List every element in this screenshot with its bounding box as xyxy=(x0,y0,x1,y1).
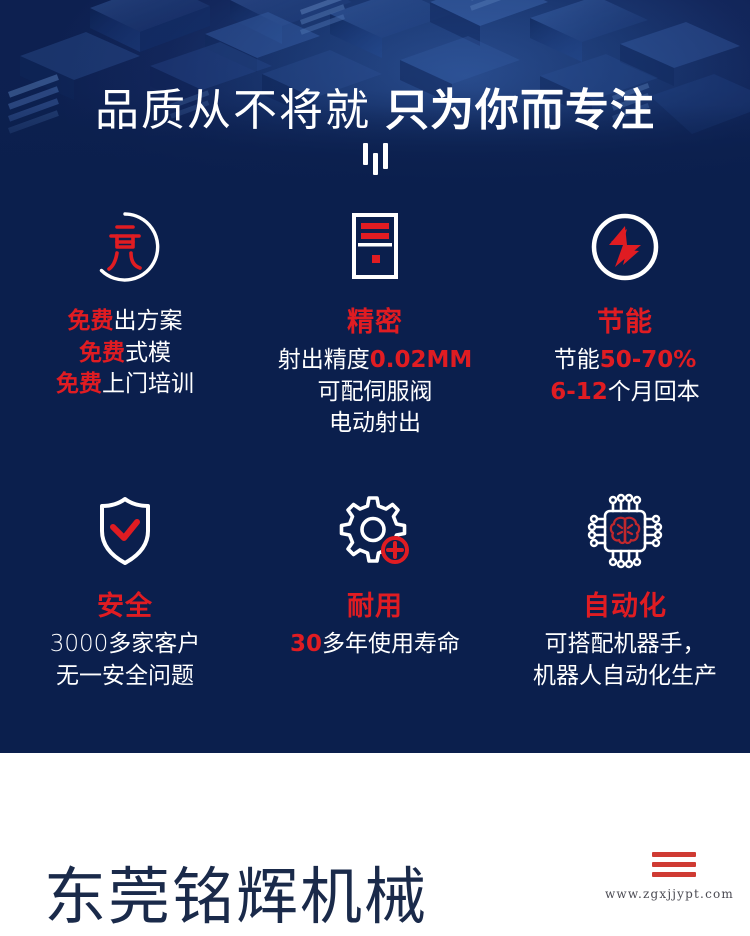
feature-line-seg: 免费 xyxy=(68,308,114,334)
feature-line-seg: 出方案 xyxy=(114,308,183,334)
feature-line-seg: 50-70% xyxy=(600,347,697,373)
feature-lines: 可搭配机器手， 机器人自动化生产 xyxy=(533,629,717,692)
feature-line: 节能50-70% xyxy=(550,345,700,377)
feature-line: 可搭配机器手， xyxy=(533,629,717,661)
feature-lines: 3000多家客户 无一安全问题 xyxy=(50,629,201,692)
feature-line-seg: 30 xyxy=(290,631,322,657)
three-bars-divider-icon xyxy=(0,143,750,183)
dark-feature-section: 品质从不将就只为你而专注 xyxy=(0,0,750,753)
three-red-bars-icon xyxy=(652,852,696,882)
feature-line-seg: 射出精度 xyxy=(278,347,370,373)
feature-line-seg: 多年使用寿命 xyxy=(322,631,460,657)
headline-thin-part: 品质从不将就 xyxy=(95,85,371,136)
feature-card-precision: 精密 射出精度0.02MM 可配伺服阀 电动射出 xyxy=(250,208,500,440)
feature-lines: 30多年使用寿命 xyxy=(290,629,460,661)
feature-card-automation: 自动化 可搭配机器手， 机器人自动化生产 xyxy=(500,492,750,692)
ai-chip-brain-icon xyxy=(584,492,666,570)
footer-section: 东莞铭辉机械 www.zgxjjypt.com xyxy=(0,753,750,916)
energy-bolt-circle-icon xyxy=(587,208,663,286)
feature-line-seg: 6-12 xyxy=(550,379,608,405)
feature-line-seg: 免费 xyxy=(56,371,102,397)
feature-line: 射出精度0.02MM xyxy=(278,345,473,377)
feature-card-durable: 耐用 30多年使用寿命 xyxy=(250,492,500,692)
shield-check-icon xyxy=(90,492,160,570)
feature-line-seg: 0.02MM xyxy=(370,347,473,373)
feature-line: 6-12个月回本 xyxy=(550,377,700,409)
hero-headline: 品质从不将就只为你而专注 xyxy=(0,74,750,138)
feature-line: 免费上门培训 xyxy=(56,369,194,401)
feature-title: 安全 xyxy=(97,584,153,623)
feature-title: 耐用 xyxy=(347,584,403,623)
feature-line: 电动射出 xyxy=(278,408,473,440)
feature-line: 机器人自动化生产 xyxy=(533,661,717,693)
company-brand-name: 东莞铭辉机械 xyxy=(44,846,428,936)
feature-line: 免费出方案 xyxy=(56,306,194,338)
circle-free-character-icon xyxy=(87,208,163,286)
headline-bold-part: 只为你而专注 xyxy=(385,85,655,136)
feature-line: 3000多家客户 xyxy=(50,629,201,661)
watermark-url: www.zgxjjypt.com xyxy=(605,887,734,901)
feature-title: 节能 xyxy=(597,300,653,339)
feature-line-seg: 上门培训 xyxy=(102,371,194,397)
feature-card-free: 免费出方案 免费式模 免费上门培训 xyxy=(0,208,250,440)
feature-line-seg: 个月回本 xyxy=(608,379,700,405)
feature-title: 精密 xyxy=(347,300,403,339)
feature-lines: 免费出方案 免费式模 免费上门培训 xyxy=(56,306,194,401)
feature-lines: 射出精度0.02MM 可配伺服阀 电动射出 xyxy=(278,345,473,440)
page-root: 品质从不将就只为你而专注 xyxy=(0,0,750,916)
gear-plus-icon xyxy=(336,492,414,570)
feature-line-seg: 节能 xyxy=(554,347,600,373)
feature-line: 可配伺服阀 xyxy=(278,377,473,409)
feature-line: 无一安全问题 xyxy=(50,661,201,693)
feature-line: 免费式模 xyxy=(56,338,194,370)
feature-card-energy-saving: 节能 节能50-70% 6-12个月回本 xyxy=(500,208,750,440)
feature-grid: 免费出方案 免费式模 免费上门培训 精密 xyxy=(0,208,750,693)
feature-line-seg: 免费 xyxy=(79,340,125,366)
feature-card-safety: 安全 3000多家客户 无一安全问题 xyxy=(0,492,250,692)
precision-panel-icon xyxy=(340,208,410,286)
feature-line-seg: 式模 xyxy=(125,340,171,366)
feature-lines: 节能50-70% 6-12个月回本 xyxy=(550,345,700,408)
site-watermark: www.zgxjjypt.com xyxy=(558,852,738,908)
feature-line: 30多年使用寿命 xyxy=(290,629,460,661)
feature-title: 自动化 xyxy=(583,584,667,623)
